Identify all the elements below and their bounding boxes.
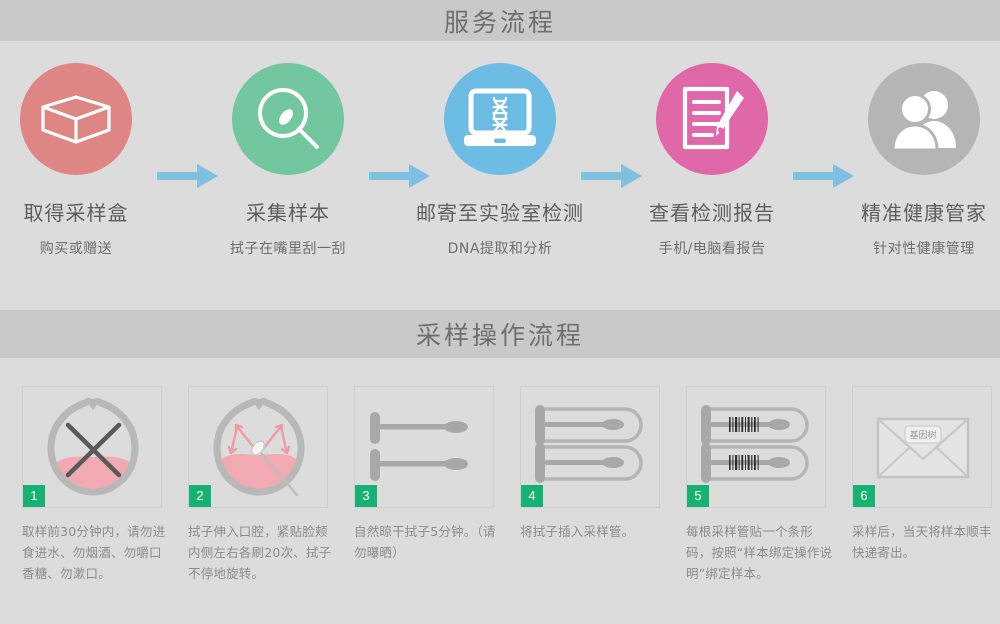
infographic-page: 服务流程 取 — [0, 0, 1000, 624]
sampling-box-icon — [39, 92, 113, 146]
flow-circle-4 — [656, 63, 768, 175]
envelope-label: 基因树 — [909, 429, 936, 441]
swab-magnifier-icon — [252, 83, 324, 155]
flow-subtitle-2: 拭子在嘴里刮一刮 — [188, 238, 388, 258]
sampling-step-4[interactable]: 4 将拭子插入采样管。 — [520, 386, 660, 542]
sampling-card-6: 基因树 6 — [852, 386, 992, 508]
sampling-flow-header: 采样操作流程 — [0, 310, 1000, 358]
sampling-step-6[interactable]: 基因树 6 采样后，当天将样本顺丰快递寄出。 — [852, 386, 992, 563]
flow-step-2[interactable]: 采集样本 拭子在嘴里刮一刮 — [188, 63, 388, 258]
step-caption-5: 每根采样管贴一个条形码，按照“样本绑定操作说明”绑定样本。 — [686, 521, 836, 584]
flow-title-2: 采集样本 — [188, 197, 388, 226]
step-caption-1: 取样前30分钟内，请勿进食进水、勿烟酒、勿嚼口香糖、勿漱口。 — [22, 521, 172, 584]
sampling-step-3[interactable]: 3 自然晾干拭子5分钟。（请勿曝晒） — [354, 386, 494, 563]
flow-step-5[interactable]: 精准健康管家 针对性健康管理 — [824, 63, 1000, 258]
sampling-card-2: 2 — [188, 386, 328, 508]
flow-circle-5 — [868, 63, 980, 175]
flow-title-1: 取得采样盒 — [0, 197, 176, 226]
service-flow-title: 服务流程 — [444, 3, 556, 39]
flow-circle-3 — [444, 63, 556, 175]
service-flow-header: 服务流程 — [0, 0, 1000, 41]
flow-subtitle-5: 针对性健康管理 — [824, 238, 1000, 258]
step-badge-1: 1 — [23, 485, 45, 507]
sampling-card-3: 3 — [354, 386, 494, 508]
flow-circle-1 — [20, 63, 132, 175]
flow-subtitle-4: 手机/电脑看报告 — [612, 238, 812, 258]
flow-step-4[interactable]: 查看检测报告 手机/电脑看报告 — [612, 63, 812, 258]
sampling-steps-row: 1 取样前30分钟内，请勿进食进水、勿烟酒、勿嚼口香糖、勿漱口。 — [0, 358, 1000, 624]
step-badge-3: 3 — [355, 485, 377, 507]
sampling-step-2[interactable]: 2 拭子伸入口腔，紧贴脸颊内侧左右各刷20次、拭子不停地旋转。 — [188, 386, 328, 584]
step-caption-2: 拭子伸入口腔，紧贴脸颊内侧左右各刷20次、拭子不停地旋转。 — [188, 521, 338, 584]
sampling-flow-title: 采样操作流程 — [416, 316, 584, 352]
flow-circle-2 — [232, 63, 344, 175]
flow-step-1[interactable]: 取得采样盒 购买或赠送 — [0, 63, 176, 258]
flow-subtitle-3: DNA提取和分析 — [400, 238, 600, 258]
sampling-card-1: 1 — [22, 386, 162, 508]
sampling-card-5: 5 — [686, 386, 826, 508]
two-people-icon — [888, 88, 960, 150]
step-badge-4: 4 — [521, 485, 543, 507]
sampling-card-4: 4 — [520, 386, 660, 508]
step-badge-5: 5 — [687, 485, 709, 507]
step-caption-4: 将拭子插入采样管。 — [520, 521, 670, 542]
step-badge-2: 2 — [189, 485, 211, 507]
flow-subtitle-1: 购买或赠送 — [0, 238, 176, 258]
report-pen-icon — [677, 85, 747, 153]
flow-title-3: 邮寄至实验室检测 — [400, 197, 600, 226]
flow-step-3[interactable]: 邮寄至实验室检测 DNA提取和分析 — [400, 63, 600, 258]
flow-title-4: 查看检测报告 — [612, 197, 812, 226]
sampling-step-1[interactable]: 1 取样前30分钟内，请勿进食进水、勿烟酒、勿嚼口香糖、勿漱口。 — [22, 386, 162, 584]
laptop-dna-icon — [460, 87, 540, 151]
step-caption-3: 自然晾干拭子5分钟。（请勿曝晒） — [354, 521, 504, 563]
step-badge-6: 6 — [853, 485, 875, 507]
step-caption-6: 采样后，当天将样本顺丰快递寄出。 — [852, 521, 1000, 563]
service-flow-row: 取得采样盒 购买或赠送 采集样本 拭子在嘴里刮一刮 — [0, 41, 1000, 310]
sampling-step-5[interactable]: 5 每根采样管贴一个条形码，按照“样本绑定操作说明”绑定样本。 — [686, 386, 826, 584]
flow-title-5: 精准健康管家 — [824, 197, 1000, 226]
